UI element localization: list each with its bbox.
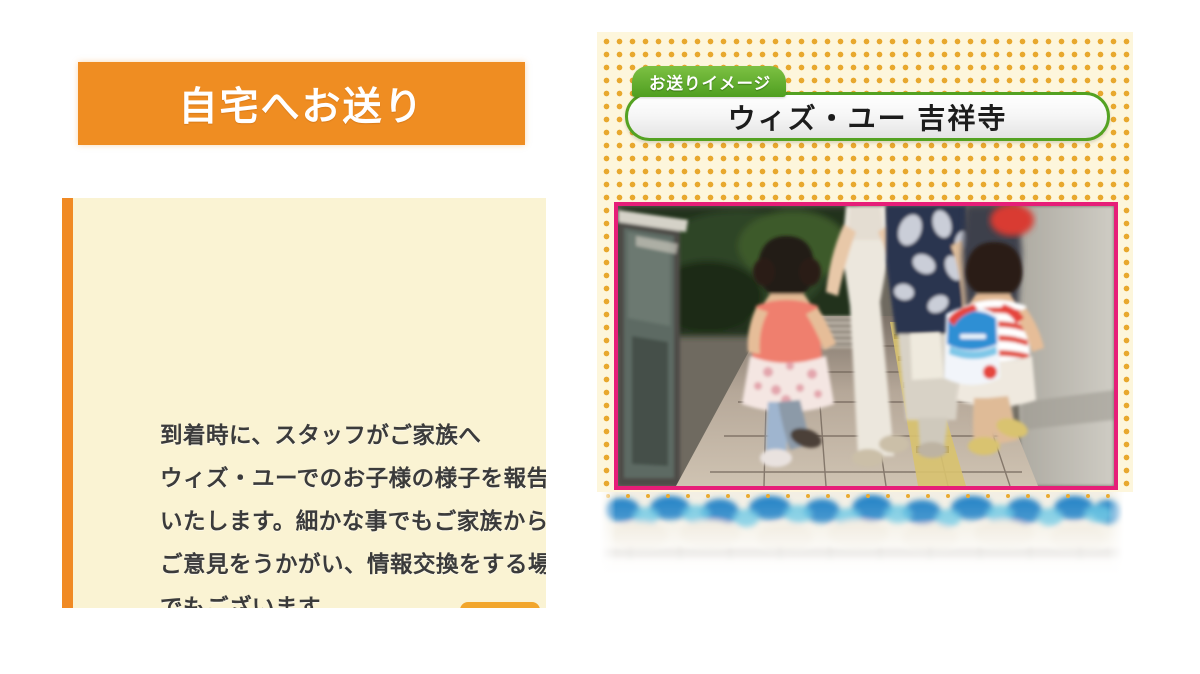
strip-right-fade <box>1108 492 1124 588</box>
video-panel: お送りイメージ ウィズ・ユー 吉祥寺 <box>597 32 1133 492</box>
page-title: 自宅へお送り <box>178 76 424 132</box>
section-title-banner: 自宅へお送り <box>78 62 525 145</box>
info-line: ご意見をうかがい、情報交換をする場 <box>160 543 546 586</box>
sidewalk-walking-photo-illustration <box>618 206 1114 486</box>
info-line: でもございます。 <box>160 586 546 608</box>
info-card: 到着時に、スタッフがご家族へ ウィズ・ユーでのお子様の様子を報告 いたします。細… <box>62 198 546 608</box>
facility-name-banner: ウィズ・ユー 吉祥寺 <box>625 92 1110 141</box>
bottom-blurred-video-strip <box>600 492 1124 588</box>
strip-fade-overlay <box>600 492 1124 588</box>
slide-root: 自宅へお送り <box>0 0 1200 674</box>
info-card-accent-bar <box>62 198 73 608</box>
video-section-tab-label: お送りイメージ <box>649 70 771 94</box>
video-section-tab: お送りイメージ <box>632 66 786 97</box>
info-line: 到着時に、スタッフがご家族へ <box>160 414 546 457</box>
video-photo-frame <box>614 202 1118 490</box>
facility-name-label: ウィズ・ユー 吉祥寺 <box>728 97 1008 137</box>
info-line: ウィズ・ユーでのお子様の様子を報告 <box>160 457 546 500</box>
video-photo <box>618 206 1114 486</box>
info-body-text: 到着時に、スタッフがご家族へ ウィズ・ユーでのお子様の様子を報告 いたします。細… <box>160 414 546 608</box>
info-line: いたします。細かな事でもご家族からの <box>160 500 546 543</box>
strip-left-fade <box>600 492 616 588</box>
